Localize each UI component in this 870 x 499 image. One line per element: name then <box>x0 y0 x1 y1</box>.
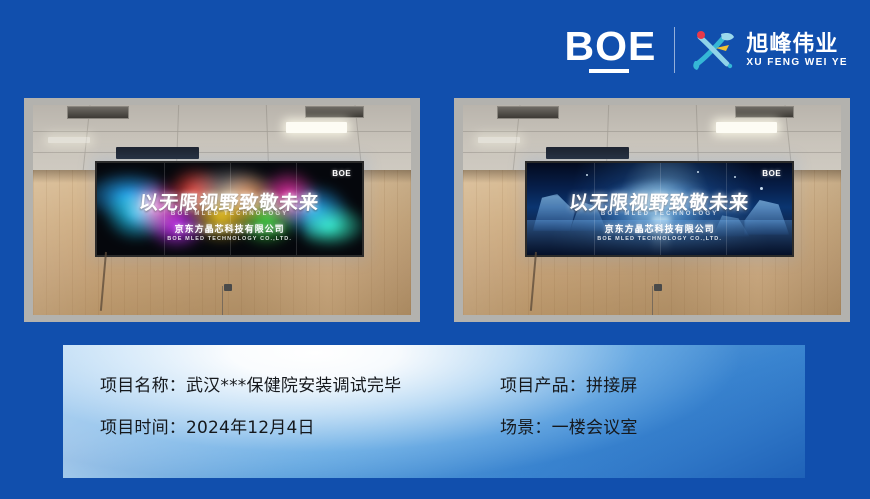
screen-corp-block: 京东方晶芯科技有限公司 BOE MLED TECHNOLOGY CO.,LTD. <box>97 222 362 242</box>
partner-name-cn: 旭峰伟业 <box>746 32 848 55</box>
screen-corp-cn: 京东方晶芯科技有限公司 <box>97 222 362 235</box>
screen-corp-cn: 京东方晶芯科技有限公司 <box>527 222 792 235</box>
meeting-room-scene: BOE 以无限视野致敬未来 BOE MLED TECHNOLOGY 京东方晶芯科… <box>463 105 841 315</box>
photo-gallery: BOE 以无限视野致敬未来 BOE MLED TECHNOLOGY 京东方晶芯科… <box>24 98 850 322</box>
project-info-panel: 项目名称：武汉***保健院安装调试完毕 项目产品：拼接屏 项目时间：2024年1… <box>63 345 805 478</box>
boe-logo: BOE <box>564 27 674 73</box>
project-name-text: 项目名称：武汉***保健院安装调试完毕 <box>100 371 500 396</box>
photo-card-led-wall-colorful[interactable]: BOE 以无限视野致敬未来 BOE MLED TECHNOLOGY 京东方晶芯科… <box>24 98 420 322</box>
ceiling-beam <box>546 147 629 159</box>
poster-canvas: BOE 旭峰伟业 XU FENG WEI YE <box>0 0 870 499</box>
ceiling-light <box>286 122 346 133</box>
ceiling-beam <box>116 147 199 159</box>
photo-card-led-wall-blue[interactable]: BOE 以无限视野致敬未来 BOE MLED TECHNOLOGY 京东方晶芯科… <box>454 98 850 322</box>
project-time-text: 项目时间：2024年12月4日 <box>100 413 500 438</box>
boe-wordmark: BOE <box>564 27 656 66</box>
mic-stem <box>222 286 223 315</box>
ceiling-vent <box>305 106 364 118</box>
project-product-text: 项目产品：拼接屏 <box>500 371 638 396</box>
led-screen: BOE 以无限视野致敬未来 BOE MLED TECHNOLOGY 京东方晶芯科… <box>525 161 794 257</box>
partner-logo: 旭峰伟业 XU FENG WEI YE <box>691 28 848 72</box>
screen-brand-label: BOE <box>762 169 781 178</box>
ceiling-light <box>716 122 776 133</box>
mic-stem <box>652 286 653 315</box>
screen-brand-label: BOE <box>332 169 351 178</box>
project-scene-text: 场景：一楼会议室 <box>500 413 638 438</box>
header-logo-bar: BOE 旭峰伟业 XU FENG WEI YE <box>564 22 848 78</box>
photo-image-led-wall-blue: BOE 以无限视野致敬未来 BOE MLED TECHNOLOGY 京东方晶芯科… <box>463 105 841 315</box>
partner-name-en: XU FENG WEI YE <box>746 57 848 68</box>
ceiling-light <box>48 137 90 143</box>
photo-image-led-wall-colorful: BOE 以无限视野致敬未来 BOE MLED TECHNOLOGY 京东方晶芯科… <box>33 105 411 315</box>
partner-name-block: 旭峰伟业 XU FENG WEI YE <box>746 32 848 68</box>
screen-subline: BOE MLED TECHNOLOGY <box>527 211 792 217</box>
logo-divider <box>674 27 675 73</box>
xufeng-x-mark-icon <box>691 28 737 72</box>
ceiling-mic <box>224 284 232 291</box>
screen-corp-block: 京东方晶芯科技有限公司 BOE MLED TECHNOLOGY CO.,LTD. <box>527 222 792 242</box>
screen-corp-en: BOE MLED TECHNOLOGY CO.,LTD. <box>527 236 792 242</box>
ceiling-vent <box>735 106 794 118</box>
project-info-grid: 项目名称：武汉***保健院安装调试完毕 项目产品：拼接屏 项目时间：2024年1… <box>100 371 638 438</box>
led-screen: BOE 以无限视野致敬未来 BOE MLED TECHNOLOGY 京东方晶芯科… <box>95 161 364 257</box>
boe-underline-icon <box>589 69 629 73</box>
meeting-room-scene: BOE 以无限视野致敬未来 BOE MLED TECHNOLOGY 京东方晶芯科… <box>33 105 411 315</box>
ceiling-vent <box>497 106 559 119</box>
ceiling-vent <box>67 106 129 119</box>
screen-subline: BOE MLED TECHNOLOGY <box>97 211 362 217</box>
ceiling-mic <box>654 284 662 291</box>
ceiling-light <box>478 137 520 143</box>
screen-corp-en: BOE MLED TECHNOLOGY CO.,LTD. <box>97 236 362 242</box>
